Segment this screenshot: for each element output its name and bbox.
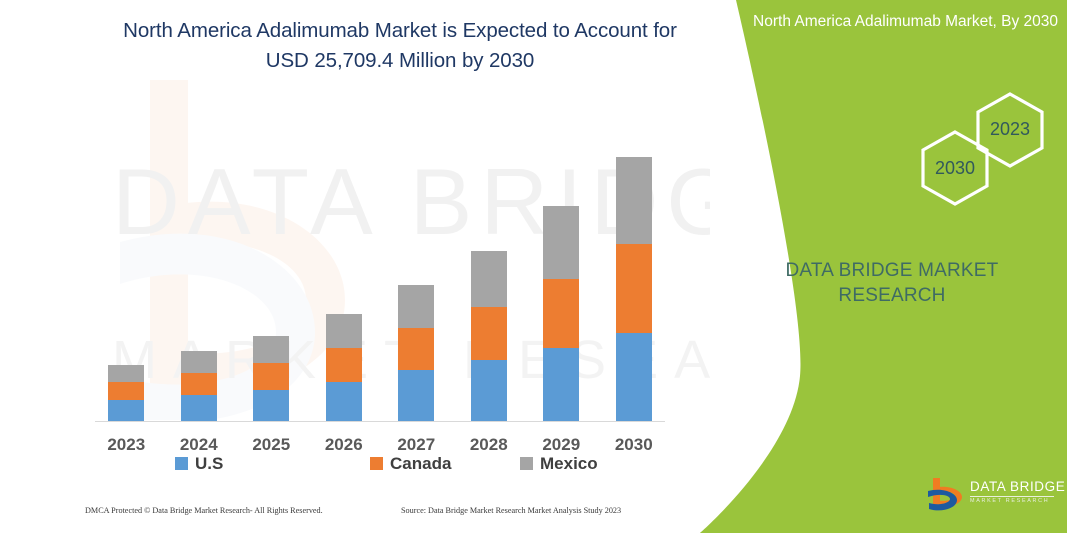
- logo-tagline: MARKET RESEARCH: [970, 498, 1049, 504]
- bar-2030: [616, 157, 652, 422]
- bar-segment-mexico-2023: [108, 365, 144, 382]
- bar-2024: [181, 351, 217, 422]
- bar-segment-canada-2027: [398, 328, 434, 370]
- bar-segment-canada-2023: [108, 382, 144, 400]
- x-tick-2023: 2023: [90, 435, 162, 455]
- footer-source: Source: Data Bridge Market Research Mark…: [401, 506, 621, 515]
- bar-2028: [471, 251, 507, 422]
- bar-segment-us-2025: [253, 390, 289, 422]
- data-bridge-logo: DATA BRIDGE MARKET RESEARCH: [926, 475, 1056, 515]
- data-bridge-b-icon: [926, 475, 968, 515]
- x-tick-2029: 2029: [525, 435, 597, 455]
- green-panel-heading: North America Adalimumab Market, By 2030: [738, 10, 1058, 33]
- logo-divider: [970, 496, 1054, 497]
- legend-swatch-us: [175, 457, 188, 470]
- bar-segment-mexico-2030: [616, 157, 652, 244]
- legend-item-us[interactable]: U.S: [175, 455, 223, 472]
- x-tick-2024: 2024: [163, 435, 235, 455]
- hexagon-label-2023: 2023: [978, 119, 1042, 140]
- legend-label-canada: Canada: [390, 455, 451, 472]
- hexagon-label-2030: 2030: [923, 158, 987, 179]
- x-tick-2025: 2025: [235, 435, 307, 455]
- bar-2026: [326, 314, 362, 422]
- bar-segment-mexico-2028: [471, 251, 507, 307]
- bar-segment-us-2027: [398, 370, 434, 422]
- bar-segment-canada-2025: [253, 363, 289, 390]
- bar-segment-us-2024: [181, 395, 217, 422]
- bar-segment-us-2028: [471, 360, 507, 422]
- bar-segment-mexico-2027: [398, 285, 434, 328]
- bar-segment-mexico-2025: [253, 336, 289, 363]
- bar-chart-plot: [90, 140, 670, 422]
- hexagon-group: 2030 2023: [818, 90, 1067, 210]
- green-panel-brand: DATA BRIDGE MARKET RESEARCH: [742, 258, 1042, 308]
- bar-2027: [398, 285, 434, 422]
- bar-segment-us-2029: [543, 348, 579, 422]
- hexagon-shapes-icon: [818, 90, 1067, 210]
- bar-segment-us-2030: [616, 333, 652, 422]
- x-tick-2028: 2028: [453, 435, 525, 455]
- legend-label-mexico: Mexico: [540, 455, 598, 472]
- footer-copyright: DMCA Protected © Data Bridge Market Rese…: [85, 506, 323, 515]
- bar-2025: [253, 336, 289, 422]
- x-tick-2030: 2030: [598, 435, 670, 455]
- legend-item-mexico[interactable]: Mexico: [520, 455, 598, 472]
- x-tick-2027: 2027: [380, 435, 452, 455]
- footer: DMCA Protected © Data Bridge Market Rese…: [0, 506, 700, 526]
- x-tick-2026: 2026: [308, 435, 380, 455]
- legend-item-canada[interactable]: Canada: [370, 455, 451, 472]
- bar-segment-canada-2024: [181, 373, 217, 395]
- bar-segment-canada-2030: [616, 244, 652, 333]
- green-panel-content: North America Adalimumab Market, By 2030…: [718, 0, 1067, 533]
- bar-2023: [108, 365, 144, 422]
- legend-swatch-mexico: [520, 457, 533, 470]
- bar-segment-mexico-2029: [543, 206, 579, 279]
- bar-segment-us-2026: [326, 382, 362, 422]
- x-axis-line: [95, 421, 665, 422]
- bar-segment-canada-2029: [543, 279, 579, 348]
- bar-segment-mexico-2026: [326, 314, 362, 348]
- bar-2029: [543, 206, 579, 422]
- bar-segment-canada-2028: [471, 307, 507, 360]
- legend-swatch-canada: [370, 457, 383, 470]
- legend-label-us: U.S: [195, 455, 223, 472]
- infographic-root: DATA BRIDGE MARKET RESEARCH North Americ…: [0, 0, 1067, 533]
- logo-name: DATA BRIDGE: [970, 479, 1065, 494]
- bar-segment-canada-2026: [326, 348, 362, 382]
- bar-segment-us-2023: [108, 400, 144, 422]
- bar-segment-mexico-2024: [181, 351, 217, 373]
- page-title: North America Adalimumab Market is Expec…: [100, 16, 700, 76]
- chart-legend: U.SCanadaMexico: [175, 455, 605, 479]
